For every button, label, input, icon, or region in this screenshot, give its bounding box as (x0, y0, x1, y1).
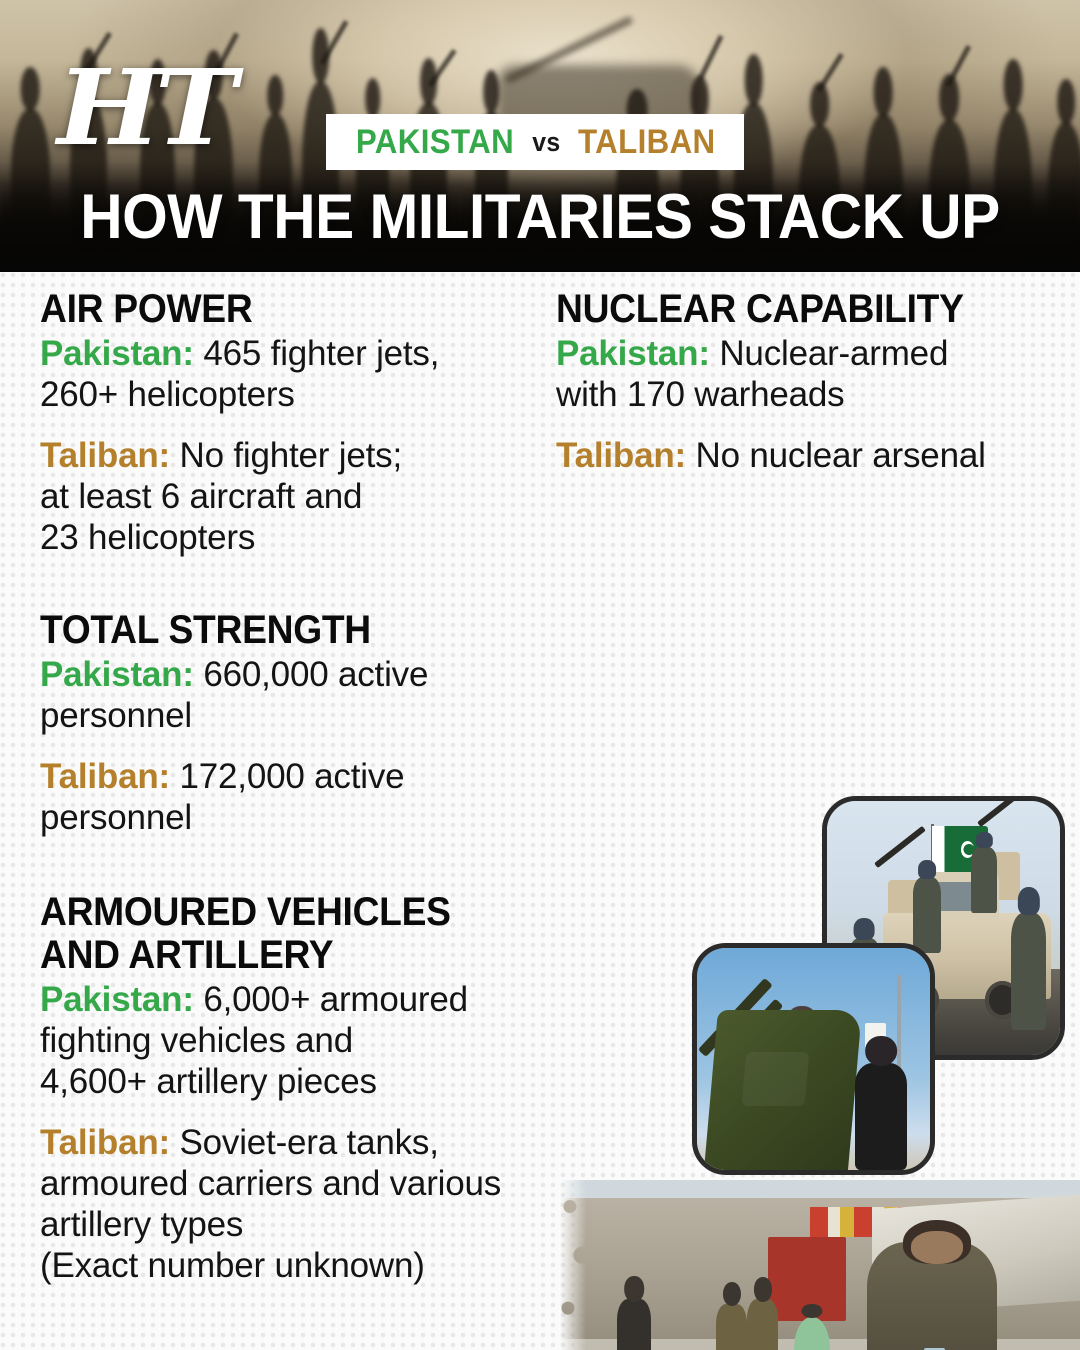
taliban-value-line-1: No fighter jets; (170, 436, 402, 475)
left-column: AIR POWER Pakistan: 465 fighter jets, 26… (40, 288, 560, 1297)
stat-row-pakistan-armoured: Pakistan: 6,000+ armoured fighting vehic… (40, 980, 560, 1103)
taliban-label: Taliban: (40, 1123, 170, 1162)
pakistan-label: Pakistan: (40, 655, 194, 694)
photo-taliban-gun (692, 943, 935, 1175)
antenna-mast (897, 975, 900, 1077)
section-air-power: AIR POWER Pakistan: 465 fighter jets, 26… (40, 288, 560, 559)
photo-taliban-street (560, 1180, 1080, 1350)
pakistan-label: Pakistan: (40, 334, 194, 373)
rifle-silhouette (698, 35, 724, 81)
matchup-badge: PAKISTAN vs TALIBAN (326, 114, 744, 170)
taliban-label: Taliban: (556, 436, 686, 475)
section-armoured-vehicles-and-artillery: ARMOURED VEHICLES AND ARTILLERY Pakistan… (40, 891, 560, 1286)
badge-pakistan-label: PAKISTAN (356, 123, 514, 162)
stat-row-taliban-air-power: Taliban: No fighter jets; at least 6 air… (40, 436, 560, 559)
section-nuclear-capability: NUCLEAR CAPABILITY Pakistan: Nuclear-arm… (556, 288, 1066, 477)
torn-paper-edge (560, 1180, 590, 1350)
anti-aircraft-gun (704, 1010, 862, 1170)
section-title-total-strength: TOTAL STRENGTH (40, 609, 524, 651)
content-area: AIR POWER Pakistan: 465 fighter jets, 26… (0, 272, 1080, 1350)
pakistan-value-line-1: Nuclear-armed (710, 334, 948, 373)
badge-vs-label: vs (532, 127, 560, 158)
pakistan-value-line-3: 4,600+ artillery pieces (40, 1062, 377, 1101)
person-figure (716, 1304, 747, 1350)
stat-row-taliban-nuclear: Taliban: No nuclear arsenal (556, 436, 1066, 477)
soldier-figure (1011, 913, 1046, 1030)
taliban-label: Taliban: (40, 436, 170, 475)
pakistan-label: Pakistan: (40, 980, 194, 1019)
pakistan-value-line-1: 465 fighter jets, (194, 334, 439, 373)
main-fighter-face (911, 1231, 963, 1264)
section-title-armoured-line-1: ARMOURED VEHICLES (40, 891, 524, 933)
rifle-silhouette (817, 53, 844, 92)
hindustan-times-logo[interactable]: HT (57, 56, 230, 160)
right-column: NUCLEAR CAPABILITY Pakistan: Nuclear-arm… (556, 288, 1066, 487)
soldier-figure (913, 877, 941, 953)
section-title-air-power: AIR POWER (40, 288, 524, 330)
taliban-value-line-2: at least 6 aircraft and (40, 477, 362, 516)
taliban-value: No nuclear arsenal (686, 436, 986, 475)
rifle-silhouette (946, 44, 972, 86)
fighter-figure (855, 1063, 906, 1170)
pakistan-label: Pakistan: (556, 334, 710, 373)
header-banner: HT PAKISTAN vs TALIBAN HOW THE MILITARIE… (0, 0, 1080, 272)
page-title: HOW THE MILITARIES STACK UP (38, 186, 1042, 249)
taliban-value-line-4: (Exact number unknown) (40, 1246, 425, 1285)
infographic-root: HT PAKISTAN vs TALIBAN HOW THE MILITARIE… (0, 0, 1080, 1350)
section-total-strength: TOTAL STRENGTH Pakistan: 660,000 active … (40, 609, 560, 839)
stat-row-pakistan-nuclear: Pakistan: Nuclear-armed with 170 warhead… (556, 334, 1066, 416)
soldier-figure (971, 847, 997, 913)
pakistan-value-line-2: fighting vehicles and (40, 1021, 353, 1060)
person-figure (747, 1299, 778, 1350)
pakistan-value-line-2: with 170 warheads (556, 375, 844, 414)
pakistan-value-line-1: 6,000+ armoured (194, 980, 468, 1019)
taliban-label: Taliban: (40, 757, 170, 796)
taliban-value-line-2: armoured carriers and various (40, 1164, 501, 1203)
stat-row-pakistan-air-power: Pakistan: 465 fighter jets, 260+ helicop… (40, 334, 560, 416)
stat-row-taliban-total-strength: Taliban: 172,000 active personnel (40, 757, 560, 839)
taliban-value-line-1: Soviet-era tanks, (170, 1123, 439, 1162)
person-figure (617, 1299, 651, 1350)
section-title-nuclear-capability: NUCLEAR CAPABILITY (556, 288, 1030, 330)
pakistan-value-line-2: 260+ helicopters (40, 375, 295, 414)
badge-taliban-label: TALIBAN (578, 123, 716, 162)
stat-row-pakistan-total-strength: Pakistan: 660,000 active personnel (40, 655, 560, 737)
stat-row-taliban-armoured: Taliban: Soviet-era tanks, armoured carr… (40, 1123, 560, 1287)
section-title-armoured-line-2: AND ARTILLERY (40, 934, 524, 976)
taliban-value-line-3: artillery types (40, 1205, 243, 1244)
taliban-value-line-3: 23 helicopters (40, 518, 255, 557)
